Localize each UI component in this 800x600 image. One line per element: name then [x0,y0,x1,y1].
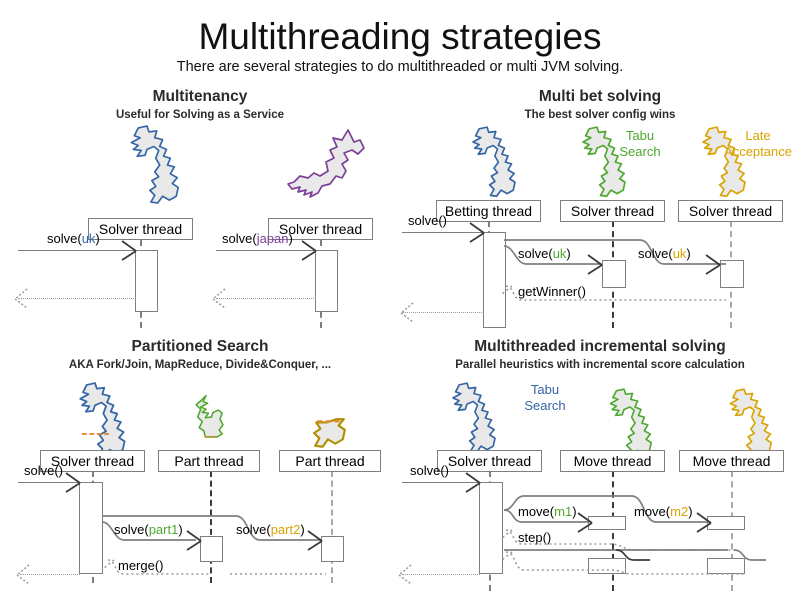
uk-part1-map [190,388,236,446]
thread-box-solver-thread-1[interactable]: Solver thread [560,200,665,222]
panel-multitenancy: Multitenancy Useful for Solving as a Ser… [0,88,400,328]
label-line-2: Search [510,398,580,414]
arrowhead-solve-uk-green [586,254,606,276]
message-label-solve-entry: solve() [410,463,449,478]
msg-suffix: ) [566,246,570,261]
label-line-1: Tabu [510,382,580,398]
msg-prefix: solve( [518,246,553,261]
panel-multithreaded-incremental-solving: Multithreaded incremental solving Parall… [400,338,800,600]
message-label-move-m2: move(m2) [634,504,693,519]
msg-arg: m1 [554,504,572,519]
return-dotted-lines [500,284,800,314]
msg-suffix: ) [572,504,576,519]
label-line-2: Search [605,144,675,160]
arrowhead-solve-entry [468,222,488,244]
message-label-solve-entry: solve() [408,213,447,228]
thread-box-betting-thread[interactable]: Betting thread [436,200,541,222]
uk-map-blue [452,124,522,202]
thread-box-move-thread-2[interactable]: Move thread [679,450,784,472]
thread-label: Move thread [693,453,771,469]
thread-label: Solver thread [99,221,182,237]
thread-box-part-thread-2[interactable]: Part thread [279,450,381,472]
thread-label: Solver thread [448,453,531,469]
label-line-1: Late [718,128,798,144]
msg-arg: part2 [271,522,301,537]
call-arrow-solve-uk [18,250,136,251]
thread-label: Solver thread [51,453,134,469]
arrowhead-solve-uk-gold [704,254,724,276]
msg-arg: uk [82,231,96,246]
arrowhead-solve-entry [64,472,84,494]
panel-subtitle: The best solver config wins [400,108,800,123]
return-arrowhead-solver [396,564,414,586]
uk-map [108,123,186,209]
thread-label: Betting thread [445,203,532,219]
msg-prefix: solve( [236,522,271,537]
arrowhead-solve-uk [120,240,140,262]
thread-box-solver-thread-1[interactable]: Solver thread [88,218,193,240]
message-label-solve-part1: solve(part1) [114,522,183,537]
return-arrowhead-solver [14,564,32,586]
msg-suffix: ) [289,231,293,246]
msg-arg: uk [673,246,687,261]
panel-subtitle: Parallel heuristics with incremental sco… [400,358,800,373]
panel-title: Multitenancy [0,88,400,106]
msg-prefix: solve( [638,246,673,261]
msg-suffix: ) [688,504,692,519]
arrowhead-solve-part1 [185,530,205,552]
uk-part2-map [302,416,358,450]
panel-partitioned-search: Partitioned Search AKA Fork/Join, MapRed… [0,338,400,600]
msg-prefix: solve( [47,231,82,246]
panel-multi-bet-solving: Multi bet solving The best solver config… [400,88,800,328]
panel-subtitle: AKA Fork/Join, MapReduce, Divide&Conquer… [0,358,400,373]
msg-prefix: solve( [114,522,149,537]
message-label-solve-uk-gold: solve(uk) [638,246,691,261]
thread-box-part-thread-1[interactable]: Part thread [158,450,260,472]
thread-label: Part thread [295,453,364,469]
msg-suffix: ) [95,231,99,246]
message-label-solve-uk-green: solve(uk) [518,246,571,261]
return-arrowhead-1 [12,288,30,310]
tabu-search-label: Tabu Search [510,382,580,414]
tabu-search-label: Tabu Search [605,128,675,160]
msg-arg: m2 [670,504,688,519]
message-label-move-m1: move(m1) [518,504,577,519]
uk-map-blue [432,380,502,458]
panel-title: Partitioned Search [0,338,400,356]
message-label-solve-part2: solve(part2) [236,522,305,537]
arrowhead-solve-part2 [306,530,326,552]
thread-label: Move thread [574,453,652,469]
page-subtitle: There are several strategies to do multi… [0,58,800,76]
arrowhead-solve-japan [300,240,320,262]
label-line-2: Acceptance [718,144,798,160]
msg-suffix: ) [178,522,182,537]
message-label-solve-japan: solve(japan) [222,231,293,246]
thread-label: Part thread [174,453,243,469]
japan-map [286,120,368,208]
msg-suffix: ) [300,522,304,537]
late-acceptance-label: Late Acceptance [718,128,798,160]
thread-label: Solver thread [571,203,654,219]
thread-box-solver-thread-2[interactable]: Solver thread [678,200,783,222]
label-line-1: Tabu [605,128,675,144]
panel-title: Multi bet solving [400,88,800,106]
second-round-lines [498,544,798,594]
return-arrowhead-betting [398,302,416,324]
thread-label: Solver thread [689,203,772,219]
panel-title: Multithreaded incremental solving [400,338,800,356]
msg-arg: japan [257,231,289,246]
msg-suffix: ) [686,246,690,261]
message-label-solve-entry: solve() [24,463,63,478]
msg-arg: uk [553,246,567,261]
thread-box-solver-thread[interactable]: Solver thread [437,450,542,472]
msg-arg: part1 [149,522,179,537]
msg-prefix: solve( [222,231,257,246]
return-dotted-lines [100,558,400,588]
msg-prefix: move( [518,504,554,519]
arrowhead-solve-entry [464,472,484,494]
return-arrowhead-2 [210,288,228,310]
return-arrow-1 [18,298,136,299]
message-label-solve-uk: solve(uk) [47,231,100,246]
return-arrow-2 [216,298,316,299]
msg-prefix: move( [634,504,670,519]
thread-box-move-thread-1[interactable]: Move thread [560,450,665,472]
diagram-canvas: Multithreading strategies There are seve… [0,0,800,600]
page-title: Multithreading strategies [0,16,800,58]
